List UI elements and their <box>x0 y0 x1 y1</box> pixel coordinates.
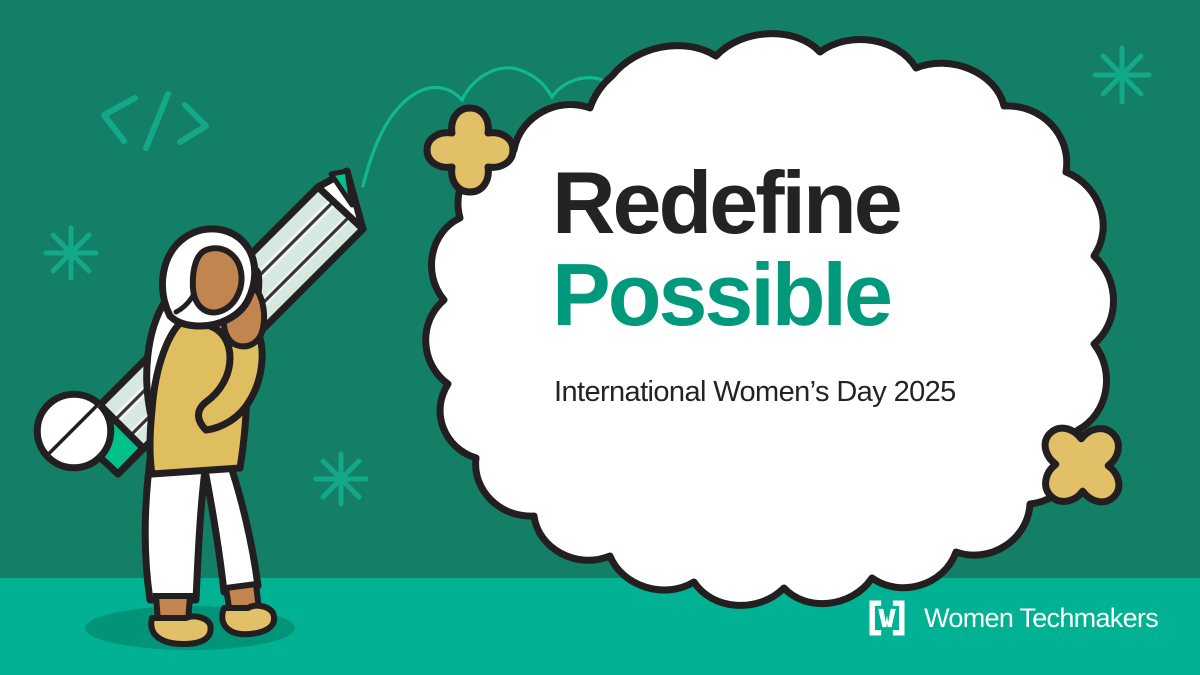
women-techmakers-logo-lockup[interactable]: Women Techmakers <box>867 598 1158 638</box>
women-techmakers-wordmark: Women Techmakers <box>924 603 1158 634</box>
gold-plus-flower-icon <box>427 108 513 192</box>
poster-canvas: Redefine Possible International Women’s … <box>0 0 1200 675</box>
gold-accents-layer <box>0 0 1200 675</box>
gold-x-flower-icon <box>1019 402 1145 528</box>
women-techmakers-w-bracket-logo-icon <box>867 598 907 638</box>
